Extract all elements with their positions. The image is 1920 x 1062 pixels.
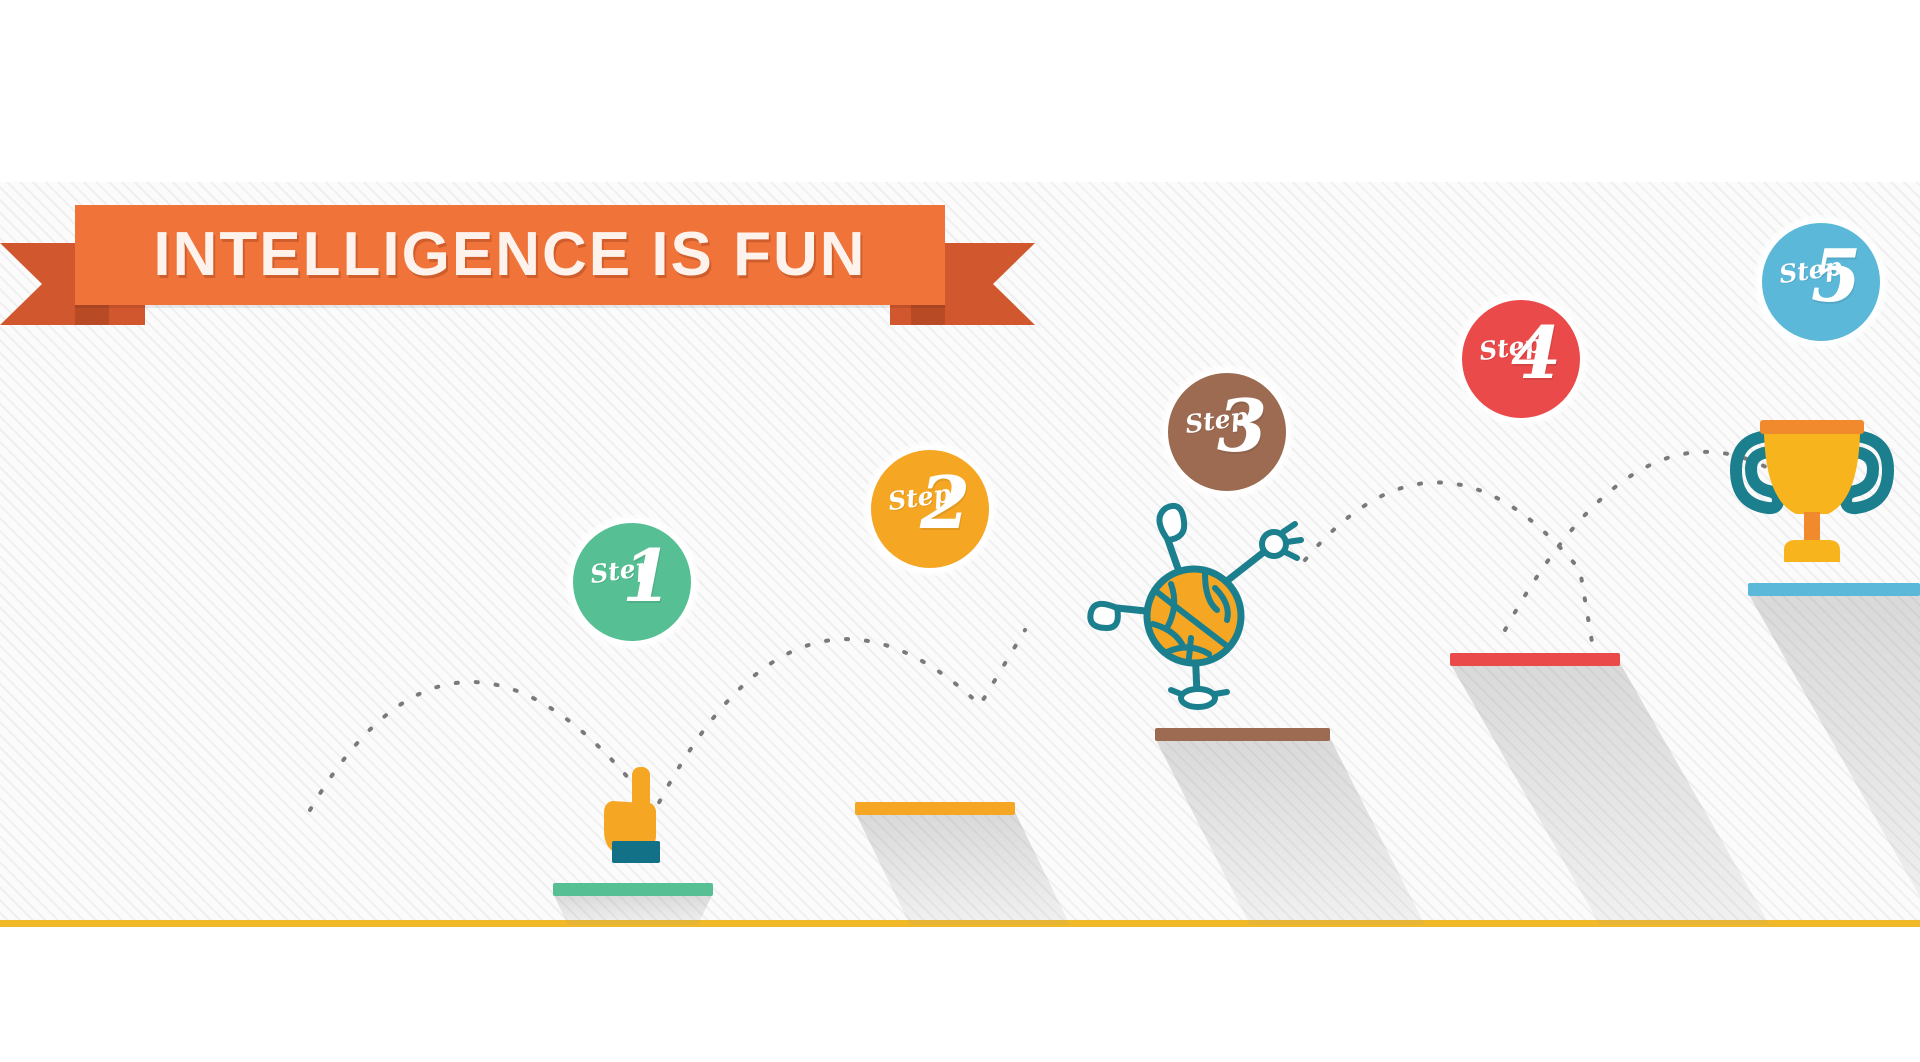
step-group-5 — [0, 0, 1920, 1062]
trophy-icon — [1722, 412, 1902, 590]
step-badge-5-number: 5 — [1811, 240, 1861, 312]
platform-shadow-5 — [1748, 593, 1920, 925]
step-badge-5-inner: Step 5 — [1762, 223, 1880, 341]
step-badge-5[interactable]: Step 5 — [1757, 218, 1885, 346]
infographic-canvas: INTELLIGENCE IS FUN Step 1 Step 2 Step — [0, 0, 1920, 1062]
